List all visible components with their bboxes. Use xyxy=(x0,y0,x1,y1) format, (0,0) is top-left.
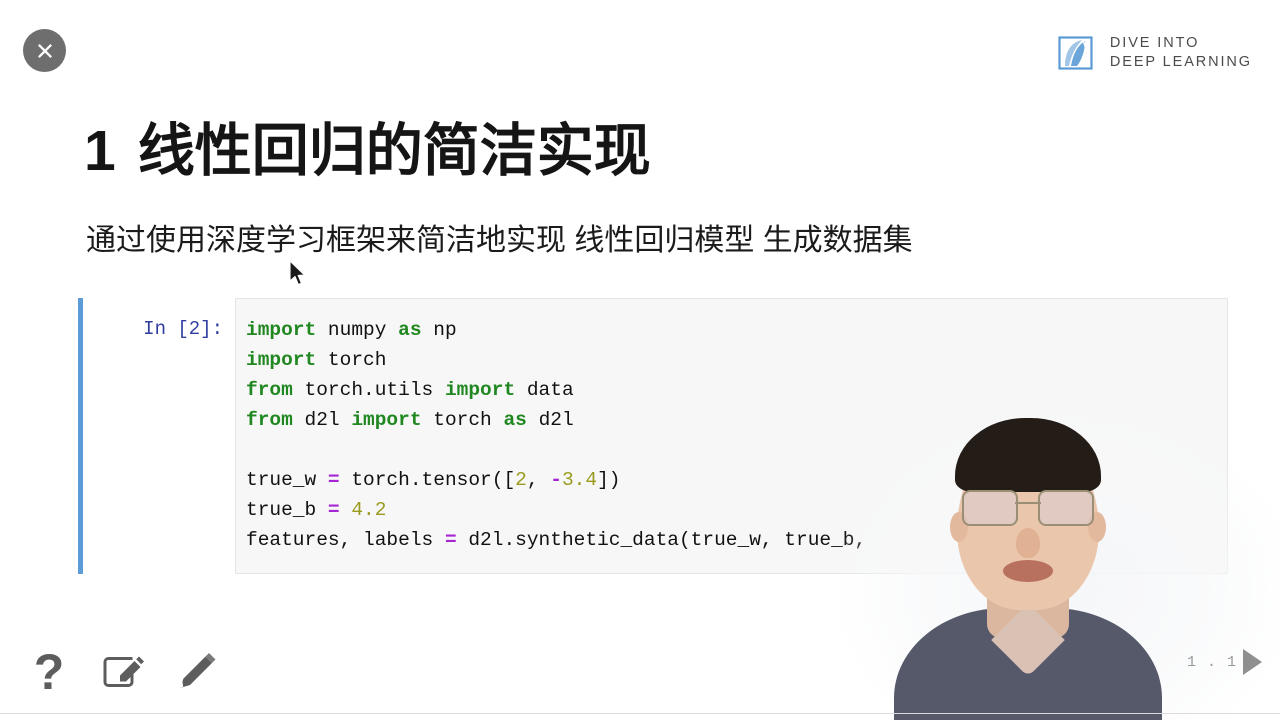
code-line-blank xyxy=(246,435,1215,465)
code-token: true_b xyxy=(246,499,328,521)
code-token: as xyxy=(503,409,526,431)
d2l-book-logo-icon xyxy=(1055,32,1097,74)
section-number: 1 xyxy=(84,119,116,183)
code-token: torch xyxy=(316,349,386,371)
code-token: data xyxy=(515,379,574,401)
brand-logo: DIVE INTO DEEP LEARNING xyxy=(1055,32,1252,74)
page-subtitle: 通过使用深度学习框架来简洁地实现 线性回归模型 生成数据集 xyxy=(86,221,913,261)
code-token: - xyxy=(550,469,562,491)
code-token: import xyxy=(351,409,421,431)
code-token: 2 xyxy=(515,469,527,491)
footer-divider xyxy=(0,713,1280,714)
cell-code-editor[interactable]: import numpy as np import torch from tor… xyxy=(235,298,1228,574)
code-line: from d2l import torch as d2l xyxy=(246,409,574,431)
code-token: = xyxy=(328,499,340,521)
code-token: torch xyxy=(422,409,504,431)
play-next-triangle-icon[interactable] xyxy=(1243,649,1262,675)
code-token: import xyxy=(445,379,515,401)
code-token: as xyxy=(398,319,421,341)
code-token xyxy=(340,499,352,521)
code-token: d2l xyxy=(527,409,574,431)
cell-prompt-label: In [2]: xyxy=(83,298,235,574)
code-line: from torch.utils import data xyxy=(246,379,574,401)
note-edit-icon[interactable] xyxy=(100,648,146,696)
code-token: import xyxy=(246,319,316,341)
code-line: true_b = 4.2 xyxy=(246,499,386,521)
brand-line-1: DIVE INTO xyxy=(1110,34,1252,53)
code-token: = xyxy=(445,529,457,551)
code-line: features, labels = d2l.synthetic_data(tr… xyxy=(246,529,866,551)
notebook-code-cell[interactable]: In [2]: import numpy as np import torch … xyxy=(78,298,1228,574)
page-navigation[interactable]: 1 . 1 xyxy=(1187,649,1262,675)
close-icon xyxy=(34,40,56,62)
page-title: 1线性回归的简洁实现 xyxy=(84,116,651,186)
title-text: 线性回归的简洁实现 xyxy=(138,119,651,183)
code-token: d2l xyxy=(293,409,352,431)
code-token: = xyxy=(328,469,340,491)
code-content: import numpy as np import torch from tor… xyxy=(246,315,1215,555)
code-token: 3.4 xyxy=(562,469,597,491)
page-indicator: 1 . 1 xyxy=(1187,654,1237,671)
code-token: torch.tensor([ xyxy=(340,469,516,491)
code-token: 4.2 xyxy=(351,499,386,521)
code-token: from xyxy=(246,409,293,431)
code-token: np xyxy=(422,319,457,341)
code-token: from xyxy=(246,379,293,401)
code-token: import xyxy=(246,349,316,371)
code-token: d2l.synthetic_data(true_w, true_b, xyxy=(457,529,867,551)
code-token: ]) xyxy=(597,469,620,491)
brand-logo-text: DIVE INTO DEEP LEARNING xyxy=(1110,34,1252,72)
annotation-toolbar[interactable]: ? xyxy=(26,648,220,696)
slide-canvas: DIVE INTO DEEP LEARNING 1线性回归的简洁实现 通过使用深… xyxy=(0,0,1280,720)
close-button[interactable] xyxy=(23,29,66,72)
code-token: features, labels xyxy=(246,529,445,551)
code-token: true_w xyxy=(246,469,328,491)
brand-line-2: DEEP LEARNING xyxy=(1110,53,1252,72)
code-token: , xyxy=(527,469,550,491)
mouse-cursor-icon xyxy=(288,260,308,288)
question-mark-icon[interactable]: ? xyxy=(26,648,72,696)
code-line: true_w = torch.tensor([2, -3.4]) xyxy=(246,469,620,491)
code-token: numpy xyxy=(316,319,398,341)
code-token: torch.utils xyxy=(293,379,445,401)
code-line: import torch xyxy=(246,349,386,371)
pencil-icon[interactable] xyxy=(174,648,220,696)
code-line: import numpy as np xyxy=(246,319,457,341)
